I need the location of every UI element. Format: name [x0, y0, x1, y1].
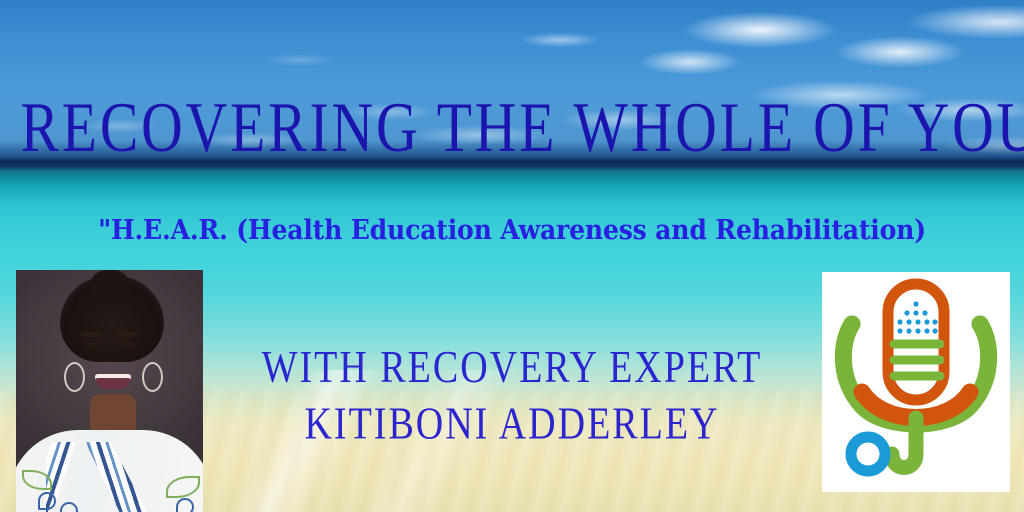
- portrait-smile: [95, 374, 131, 389]
- portrait-face: [74, 304, 152, 408]
- chest-piece-ring-icon: [851, 437, 885, 471]
- podcast-promo-banner: RECOVERING THE WHOLE OF YOU "H.E.A.R. (H…: [0, 0, 1024, 512]
- presenter-block: WITH RECOVERY EXPERT KITIBONI ADDERLEY: [232, 340, 792, 453]
- avatar: [16, 270, 203, 512]
- stethoscope-eartip-right: [972, 316, 989, 333]
- logo-panel: [822, 272, 1010, 492]
- portrait-earring-left: [64, 362, 85, 392]
- portrait-floral-motif-c: [176, 498, 194, 512]
- presenter-role-line: WITH RECOVERY EXPERT: [232, 340, 792, 396]
- microphone-stethoscope-logo: [822, 272, 1010, 492]
- portrait-earring-right: [142, 362, 163, 392]
- portrait-floral-motif-a: [38, 492, 56, 510]
- stethoscope-eartip-left: [844, 316, 861, 333]
- page-title: RECOVERING THE WHOLE OF YOU: [20, 92, 1003, 163]
- program-subtitle: "H.E.A.R. (Health Education Awareness an…: [36, 214, 988, 248]
- portrait-eye-right: [120, 342, 135, 348]
- portrait-brow-left: [81, 332, 101, 337]
- presenter-name-line: KITIBONI ADDERLEY: [232, 396, 792, 452]
- portrait-hair-bun: [90, 270, 130, 296]
- portrait-brow-right: [117, 332, 137, 337]
- portrait-eye-left: [84, 342, 99, 348]
